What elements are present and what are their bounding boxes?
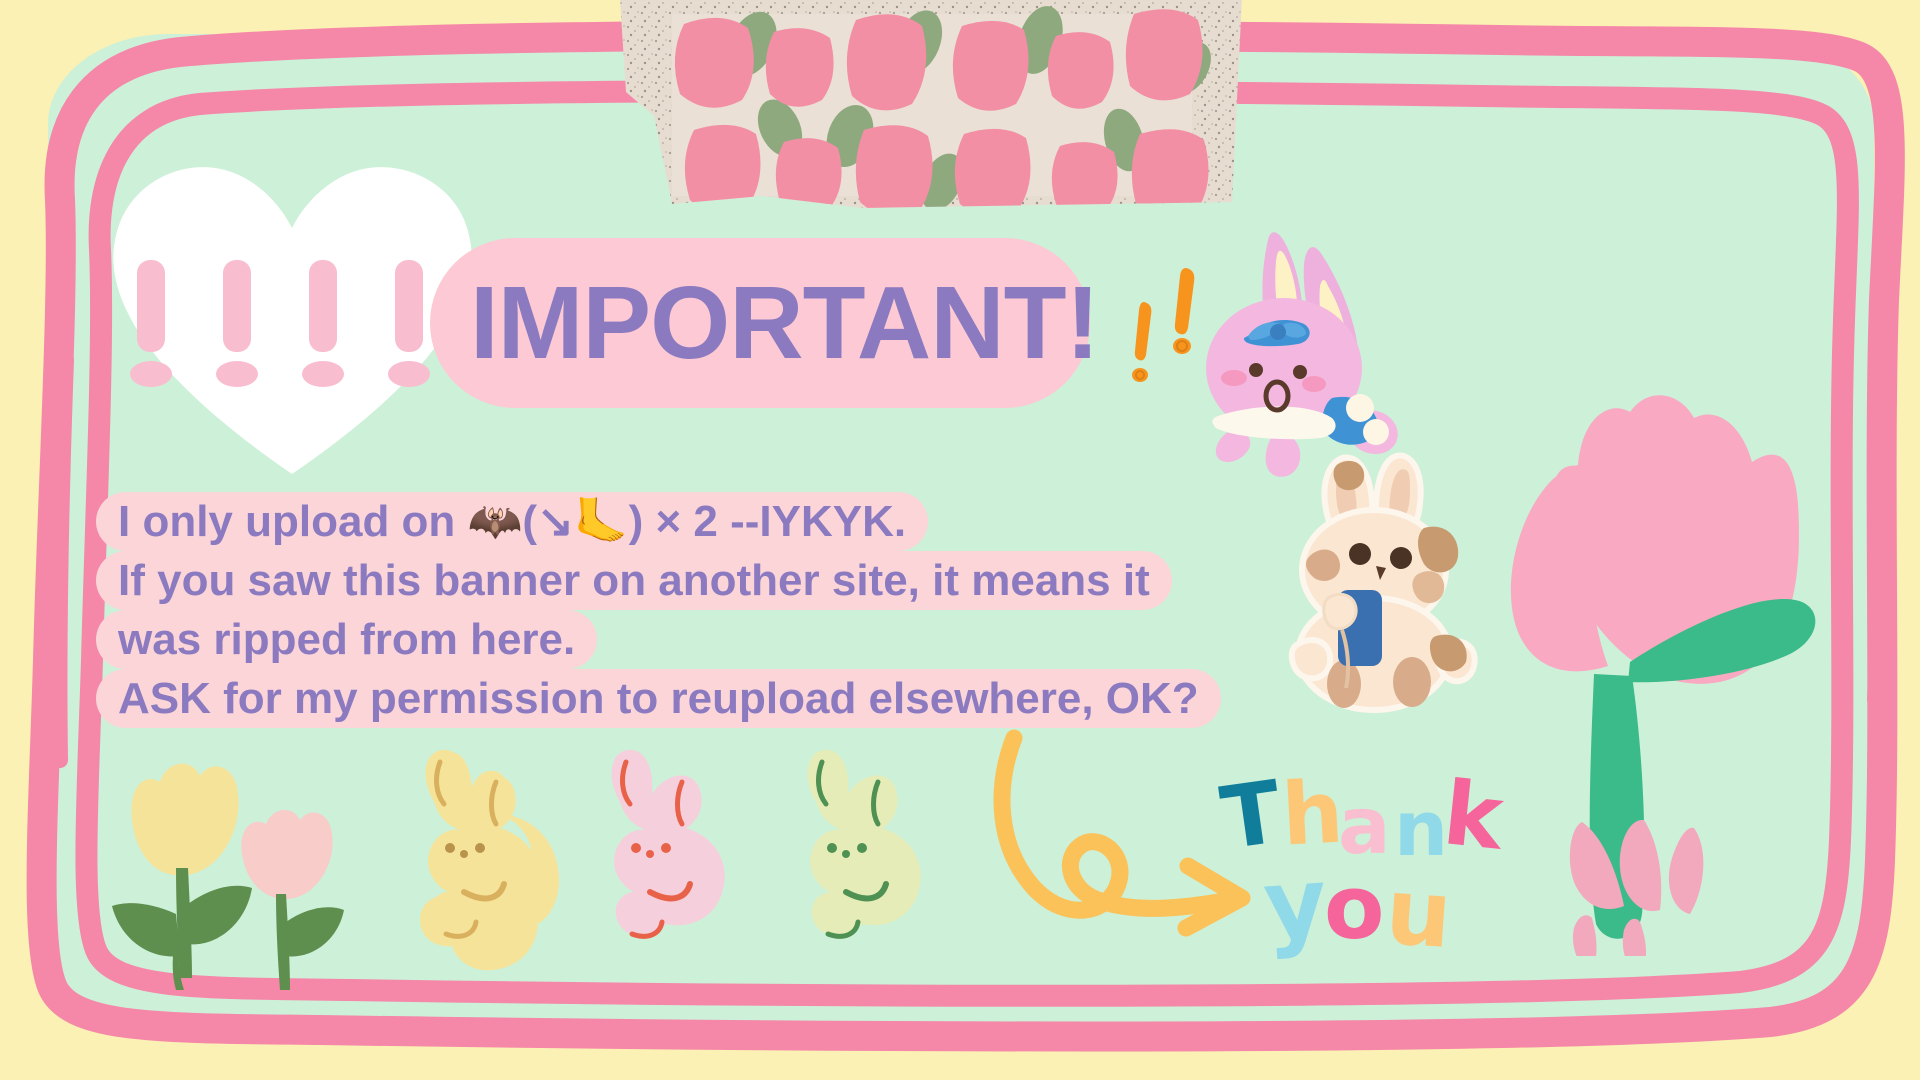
ty-letter-y: y bbox=[1260, 846, 1330, 962]
thank-you-lettering: T h a n k y o u bbox=[1216, 756, 1516, 956]
banner-canvas: IMPORTANT! bbox=[0, 0, 1920, 1080]
body-line-3: was ripped from here. bbox=[96, 610, 597, 669]
tulip-pink bbox=[241, 810, 344, 990]
ty-letter-o: o bbox=[1324, 856, 1384, 959]
gummy-bunny-green bbox=[808, 750, 921, 936]
small-tulips-group bbox=[92, 742, 362, 1002]
tulip-yellow bbox=[112, 764, 252, 990]
page-title: IMPORTANT! bbox=[470, 258, 1090, 388]
gummy-bunnies-group bbox=[404, 744, 984, 992]
gummy-bunny-yellow bbox=[420, 750, 559, 970]
body-line-2: If you saw this banner on another site, … bbox=[96, 551, 1172, 610]
ty-letter-u: u bbox=[1382, 858, 1455, 969]
body-text-block: I only upload on 🦇(↘🦶) × 2 --IYKYK. If y… bbox=[96, 492, 1256, 728]
body-line-1: I only upload on 🦇(↘🦶) × 2 --IYKYK. bbox=[96, 492, 928, 551]
gummy-bunny-pink bbox=[612, 750, 725, 936]
tulip-washi-tape bbox=[612, 0, 1252, 216]
ty-letter-k: k bbox=[1439, 761, 1508, 870]
